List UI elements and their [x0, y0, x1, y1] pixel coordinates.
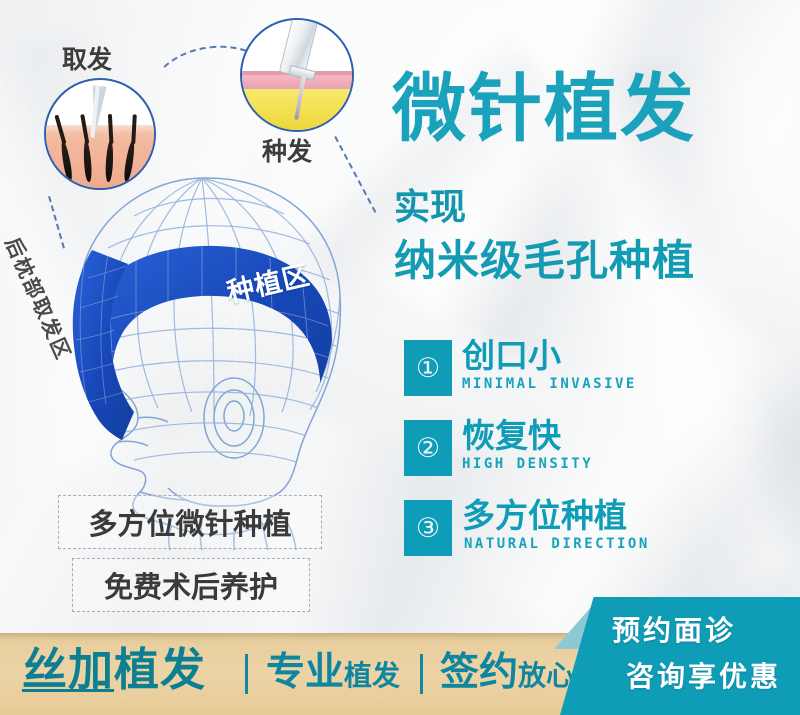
- poster-canvas: 取发 种发: [0, 0, 800, 715]
- cta-line-2: 咨询享优惠: [626, 663, 781, 691]
- cta-line-1: 预约面诊: [612, 617, 736, 645]
- feature-label-cn-3: 多方位种植: [462, 498, 627, 534]
- feature-box-1: 多方位微针种植: [58, 495, 322, 549]
- footer-slogan-1-small: 植发: [344, 659, 400, 692]
- footer-slogan-2: 签约放心: [440, 653, 574, 692]
- subtitle-line-2: 纳米级毛孔种植: [394, 240, 695, 282]
- brand-logo[interactable]: 丝加植发: [22, 647, 206, 692]
- feature-label-en-1: MINIMAL INVASIVE: [462, 376, 637, 392]
- footer-slogan-2-small: 放心: [518, 659, 574, 692]
- cta-panel[interactable]: 预约面诊 咨询享优惠: [560, 597, 800, 715]
- circled-number-icon: ③: [416, 515, 440, 542]
- footer-divider-2: [420, 654, 423, 694]
- footer-slogan-1: 专业植发: [266, 653, 400, 692]
- circled-number-icon: ①: [416, 355, 440, 382]
- brand-logo-part-b: 植发: [114, 643, 206, 696]
- page-title: 微针植发: [392, 72, 696, 146]
- feature-box-2: 免费术后养护: [72, 558, 310, 612]
- wireframe-head-illustration: [22, 150, 412, 550]
- footer-slogan-2-big: 签约: [440, 650, 518, 695]
- feature-number-badge-1: ①: [404, 340, 452, 396]
- feature-label-en-3: NATURAL DIRECTION: [464, 536, 650, 552]
- footer-slogan-1-big: 专业: [266, 650, 344, 695]
- footer-divider-1: [245, 654, 248, 694]
- feature-number-badge-2: ②: [404, 420, 452, 476]
- feature-label-cn-2: 恢复快: [462, 418, 561, 454]
- inset-implantation: [240, 18, 354, 132]
- circled-number-icon: ②: [416, 435, 440, 462]
- feature-number-badge-3: ③: [404, 500, 452, 556]
- brand-logo-part-a: 丝加: [22, 643, 114, 696]
- feature-label-cn-1: 创口小: [462, 338, 561, 374]
- subtitle-line-1: 实现: [394, 190, 466, 226]
- label-extraction: 取发: [62, 40, 112, 76]
- feature-label-en-2: HIGH DENSITY: [462, 456, 593, 472]
